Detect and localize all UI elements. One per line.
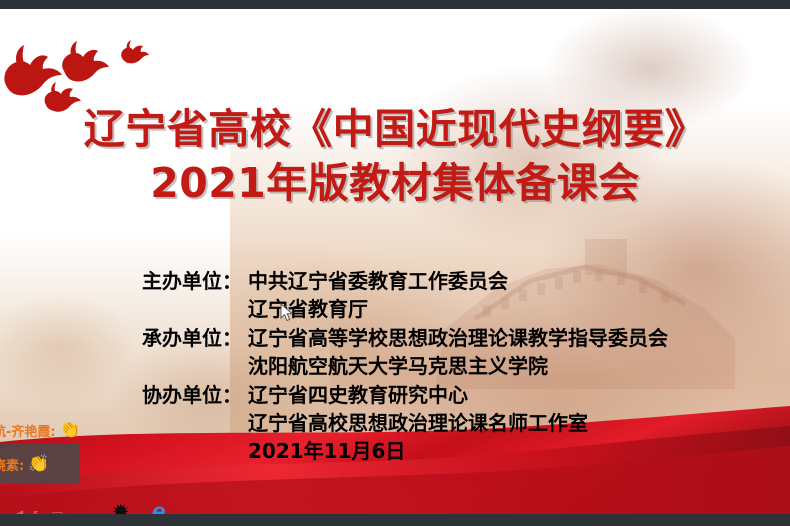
chat-sender-name: 吕晓素: bbox=[0, 455, 24, 474]
organizer-label-spacer-3 bbox=[122, 409, 248, 437]
organizer-value-undertaker-2: 沈阳航空航天大学马克思主义学院 bbox=[248, 352, 668, 380]
table-row: 沈阳航空航天大学马克思主义学院 bbox=[122, 352, 668, 380]
organizer-label-spacer-1 bbox=[122, 295, 248, 323]
table-row: 承办单位： 辽宁省高等学校思想政治理论课教学指导委员会 bbox=[122, 324, 668, 352]
table-row: 2021年11月6日 bbox=[122, 437, 668, 465]
media-controls-overlay[interactable]: ◀ ↖ ▭ bbox=[14, 506, 64, 514]
organizer-value-coorganizer-1: 辽宁省四史教育研究中心 bbox=[248, 381, 668, 409]
organizer-value-host-1: 中共辽宁省委教育工作委员会 bbox=[248, 267, 668, 295]
organizer-value-host-2: 辽宁省教育厅 bbox=[248, 295, 668, 323]
slide-date: 2021年11月6日 bbox=[248, 437, 668, 465]
slide-title-line1: 辽宁省高校《中国近现代史纲要》 bbox=[0, 105, 790, 153]
app-icons-overlay[interactable]: ✹ e bbox=[112, 500, 166, 514]
slide-title: 辽宁省高校《中国近现代史纲要》 2021年版教材集体备课会 bbox=[0, 105, 790, 208]
organizer-label-undertaker: 承办单位： bbox=[122, 324, 248, 352]
organizer-table: 主办单位： 中共辽宁省委教育工作委员会 辽宁省教育厅 承办单位： 辽宁省高等学校… bbox=[122, 267, 668, 466]
organizer-value-coorganizer-2: 辽宁省高校思想政治理论课名师工作室 bbox=[248, 409, 668, 437]
chat-notification-toast[interactable]: 沈航-齐艳霞: 👏 bbox=[0, 414, 78, 446]
organizer-label-coorganizer: 协办单位： bbox=[122, 381, 248, 409]
clapping-hands-emoji: 👏 bbox=[60, 422, 78, 439]
organizer-list: 主办单位： 中共辽宁省委教育工作委员会 辽宁省教育厅 承办单位： 辽宁省高等学校… bbox=[0, 267, 790, 466]
presentation-slide[interactable]: 辽宁省高校《中国近现代史纲要》 2021年版教材集体备课会 主办单位： 中共辽宁… bbox=[0, 9, 790, 514]
flying-doves-icon bbox=[0, 23, 180, 118]
slide-title-line2: 2021年版教材集体备课会 bbox=[0, 159, 790, 207]
table-row: 辽宁省高校思想政治理论课名师工作室 bbox=[122, 409, 668, 437]
camera-icon[interactable]: ▭ bbox=[51, 506, 63, 514]
table-row: 主办单位： 中共辽宁省委教育工作委员会 bbox=[122, 267, 668, 295]
organizer-label-host: 主办单位： bbox=[122, 267, 248, 295]
chat-sender-name: 沈航-齐艳霞: bbox=[0, 421, 56, 440]
window-bottom-bar bbox=[0, 514, 790, 526]
clapping-hands-emoji: 👏 bbox=[28, 456, 49, 473]
internet-explorer-icon[interactable]: e bbox=[152, 500, 166, 514]
table-row: 辽宁省教育厅 bbox=[122, 295, 668, 323]
pointer-icon[interactable]: ↖ bbox=[32, 507, 42, 514]
organizer-label-spacer-4 bbox=[122, 437, 248, 465]
window-top-bar bbox=[0, 0, 790, 9]
screen: 辽宁省高校《中国近现代史纲要》 2021年版教材集体备课会 主办单位： 中共辽宁… bbox=[0, 0, 790, 526]
organizer-value-undertaker-1: 辽宁省高等学校思想政治理论课教学指导委员会 bbox=[248, 324, 668, 352]
previous-icon[interactable]: ◀ bbox=[14, 507, 23, 514]
pinwheel-app-icon[interactable]: ✹ bbox=[112, 502, 130, 514]
organizer-label-spacer-2 bbox=[122, 352, 248, 380]
table-row: 协办单位： 辽宁省四史教育研究中心 bbox=[122, 381, 668, 409]
chat-notification-toast[interactable]: 吕晓素: 👏 bbox=[0, 444, 80, 484]
mouse-pointer bbox=[280, 303, 294, 323]
